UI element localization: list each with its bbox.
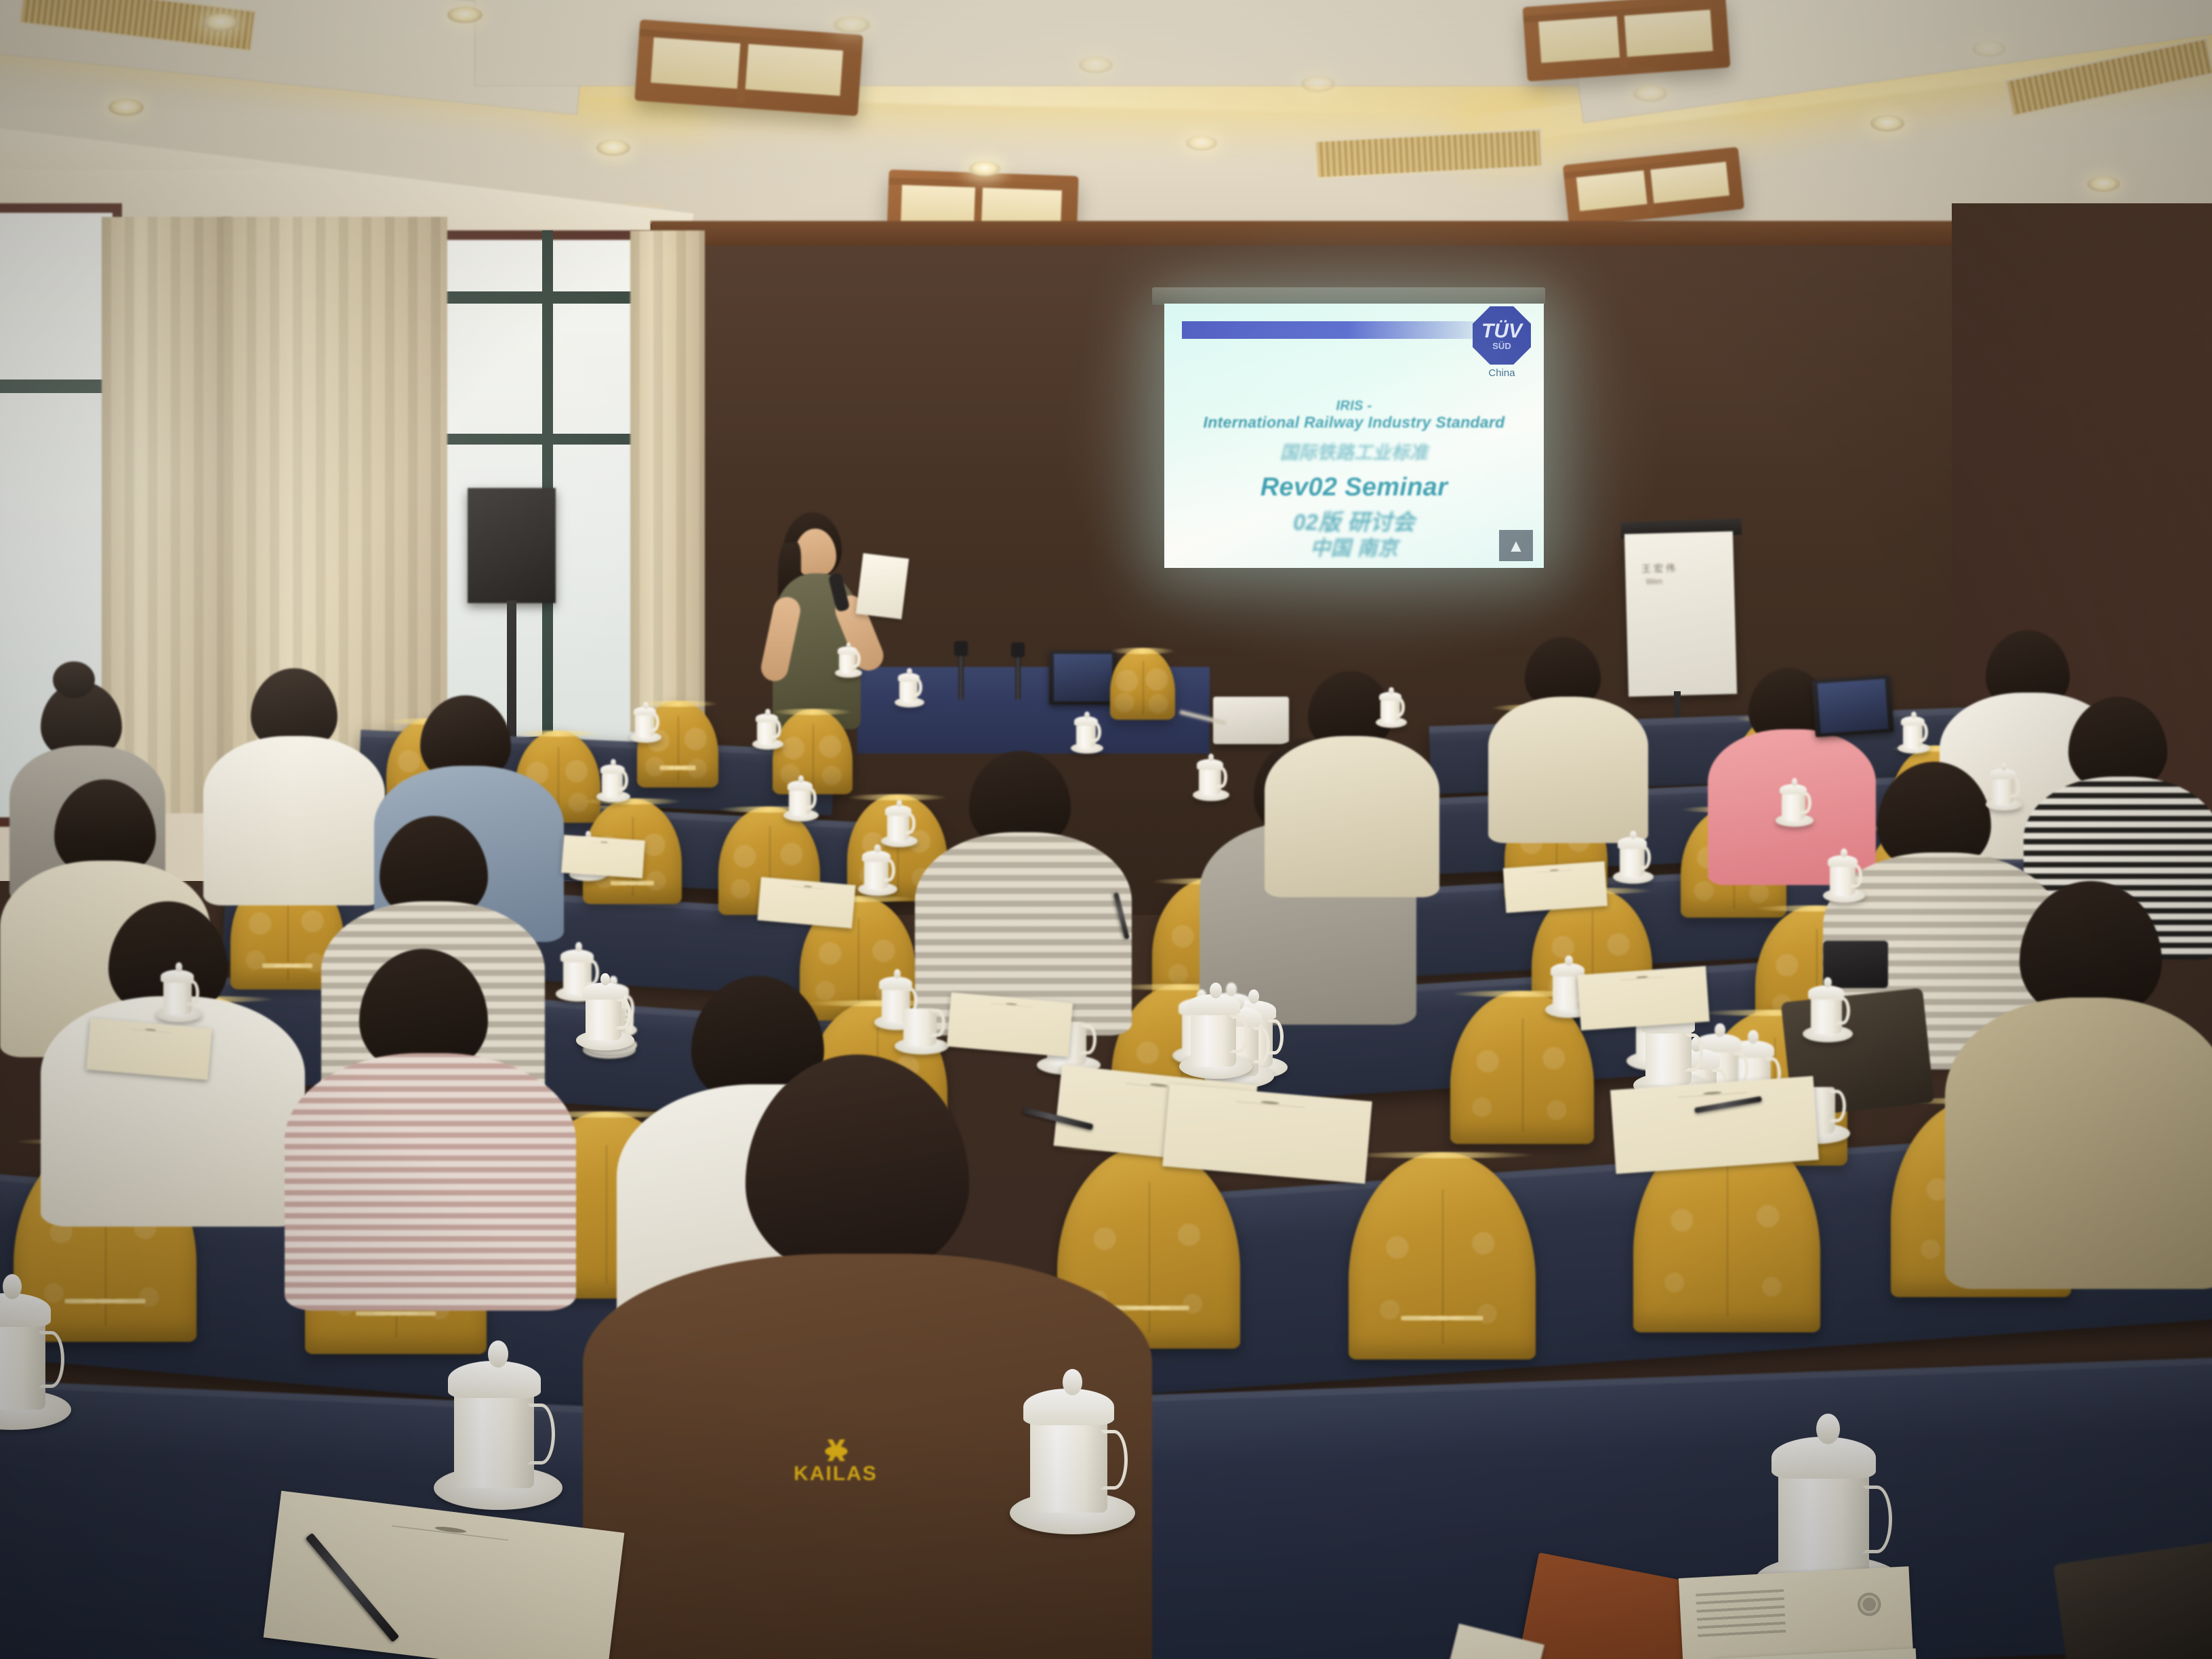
ceiling-lantern-3 (1523, 0, 1731, 81)
downlight-icon-9 (1301, 76, 1335, 92)
notepad[interactable] (561, 835, 645, 878)
conference-room-photo: TÜV SÜD China IRIS - International Railw… (0, 0, 2212, 1659)
notepad[interactable] (1577, 966, 1709, 1030)
tuv-logo-caption: China (1471, 367, 1533, 379)
downlight-icon-3 (596, 140, 630, 156)
attendee-hair-bun (53, 661, 95, 698)
kailas-brand-logo: KAILAS (778, 1462, 893, 1486)
attendee-torso (203, 736, 385, 905)
printed-document[interactable] (1679, 1566, 1913, 1659)
tuv-sud-logo-icon: TÜV SÜD (1473, 306, 1531, 365)
teacup[interactable] (1898, 712, 1930, 754)
downlight-icon-1 (203, 14, 239, 31)
notepad[interactable] (947, 992, 1073, 1057)
teacup[interactable] (1986, 763, 2022, 811)
teacup[interactable] (1376, 687, 1407, 728)
ceiling-lantern-1 (634, 20, 863, 117)
teacup[interactable] (156, 962, 202, 1022)
slide-corner-logo-icon: ▲ (1499, 530, 1533, 561)
teacup[interactable] (752, 709, 783, 750)
teacup[interactable] (895, 668, 924, 708)
attendee-torso (285, 1053, 576, 1311)
downlight-icon-12 (2087, 176, 2120, 192)
teacup[interactable] (434, 1340, 562, 1510)
speaker-stand (507, 600, 516, 750)
curtain-right (630, 230, 705, 732)
teacup[interactable] (1071, 712, 1103, 754)
teacup[interactable] (1179, 983, 1252, 1079)
teacup[interactable] (596, 759, 630, 802)
teacup[interactable] (1776, 778, 1814, 827)
tuv-logo-text-top: TÜV (1481, 321, 1522, 342)
flipchart: 王 宏 伟 Wen (1624, 531, 1737, 697)
teacup[interactable] (1803, 977, 1853, 1042)
slide-line-4: Rev02 Seminar (1164, 473, 1544, 502)
projection-screen[interactable]: TÜV SÜD China IRIS - International Railw… (1164, 304, 1544, 568)
attendee-torso (1265, 736, 1439, 897)
microphone-stand-2 (1015, 651, 1021, 699)
microphone-stand-1 (958, 649, 964, 699)
flipchart-line-2: Wen (1646, 577, 1663, 587)
teacup[interactable] (1823, 848, 1865, 903)
teacup[interactable] (783, 775, 819, 821)
downlight-icon-8 (1186, 136, 1217, 150)
downlight-icon-2 (447, 7, 483, 23)
teacup-no-lid[interactable] (895, 989, 949, 1054)
downlight-icon-11 (1870, 115, 1904, 131)
slide-line-3-chinese: 国际铁路工业标准 (1164, 438, 1544, 464)
downlight-icon-5 (834, 16, 870, 33)
slide-line-6-chinese: 中国 南京 (1164, 531, 1544, 561)
slide-line-1: IRIS - (1164, 398, 1544, 414)
attendee-torso (1488, 697, 1648, 843)
teacup[interactable] (1193, 754, 1229, 801)
screen-housing (1152, 287, 1545, 305)
kailas-brand-mark-icon (811, 1439, 862, 1461)
teacup[interactable] (0, 1274, 71, 1430)
downlight-icon-13 (1972, 41, 2006, 57)
slide-header-bar (1182, 321, 1500, 339)
teacup[interactable] (835, 642, 862, 678)
slide-line-2: International Railway Industry Standard (1164, 413, 1544, 432)
teacup[interactable] (881, 800, 918, 847)
notepad[interactable] (1610, 1076, 1819, 1174)
downlight-icon-10 (1633, 85, 1667, 102)
downlight-icon-4 (108, 99, 144, 116)
teacup[interactable] (630, 702, 661, 743)
downlight-icon-7 (969, 161, 1000, 176)
flipchart-line-1: 王 宏 伟 (1641, 561, 1675, 575)
pa-speaker (468, 488, 556, 603)
microphone-head-2 (1011, 642, 1025, 657)
teacup[interactable] (1010, 1369, 1135, 1534)
notepad[interactable] (757, 877, 855, 928)
teacup[interactable] (576, 973, 634, 1050)
notepad[interactable] (1503, 861, 1607, 913)
downlight-icon-6 (1079, 57, 1113, 73)
attendee-torso (1945, 998, 2212, 1289)
presenter-laptop[interactable] (1049, 651, 1117, 705)
document-text-lines (1696, 1589, 1786, 1640)
attendee-laptop[interactable] (1811, 675, 1894, 737)
wall-cornice-trim (651, 221, 2013, 245)
notepad[interactable] (1162, 1084, 1372, 1184)
notepad[interactable] (86, 1018, 212, 1080)
presenter-paper-sheet (856, 553, 909, 619)
tuv-logo-text-bottom: SÜD (1492, 342, 1511, 350)
teacup[interactable] (1613, 831, 1654, 884)
teacup[interactable] (858, 844, 897, 896)
document-seal-icon (1853, 1588, 1885, 1620)
microphone-head-1 (954, 641, 968, 656)
